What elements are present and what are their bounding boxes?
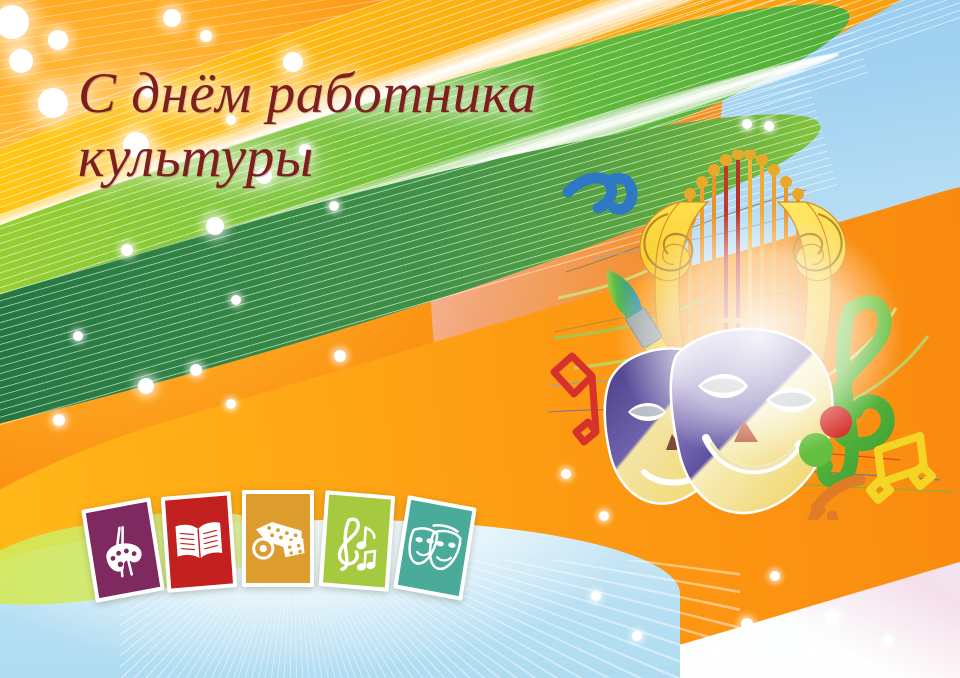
book-icon xyxy=(172,518,227,566)
bubble xyxy=(9,49,33,73)
bubble xyxy=(48,30,68,50)
culture-discipline-cards xyxy=(88,487,498,605)
bubble xyxy=(632,631,642,641)
bubble xyxy=(770,571,780,581)
bubble xyxy=(764,121,774,131)
bubble xyxy=(742,119,752,129)
bubble xyxy=(334,350,346,362)
bubble xyxy=(206,217,224,235)
bubble xyxy=(329,201,339,211)
music-note-icon xyxy=(330,508,384,574)
bubble xyxy=(825,611,839,625)
bubble xyxy=(163,9,181,27)
bubble xyxy=(38,88,68,118)
culture-card-cinema[interactable] xyxy=(242,490,314,587)
culture-card-literature[interactable] xyxy=(161,491,237,593)
culture-emblem xyxy=(548,150,960,520)
bubble xyxy=(226,399,236,409)
bubble xyxy=(138,378,154,394)
palette-icon xyxy=(95,515,152,585)
culture-card-fine-art[interactable] xyxy=(81,497,165,603)
emblem-glow xyxy=(564,160,954,510)
bubble xyxy=(121,244,133,256)
film-reel-icon xyxy=(250,516,306,562)
bubble xyxy=(710,648,722,660)
greeting-title-line-1: С днём работника xyxy=(78,62,536,125)
bubble xyxy=(591,591,601,601)
culture-card-theatre[interactable] xyxy=(393,495,477,601)
culture-card-music[interactable] xyxy=(319,490,395,592)
bubble xyxy=(741,618,753,630)
masks-icon xyxy=(404,518,467,578)
bubble xyxy=(73,331,83,341)
bubble xyxy=(200,30,212,42)
bubble xyxy=(807,650,817,660)
bubble xyxy=(883,635,893,645)
bubble xyxy=(53,414,65,426)
bubble xyxy=(190,364,202,376)
bubble xyxy=(0,5,29,39)
bubble xyxy=(231,295,241,305)
greeting-card-poster: С днём работника культуры xyxy=(0,0,960,678)
